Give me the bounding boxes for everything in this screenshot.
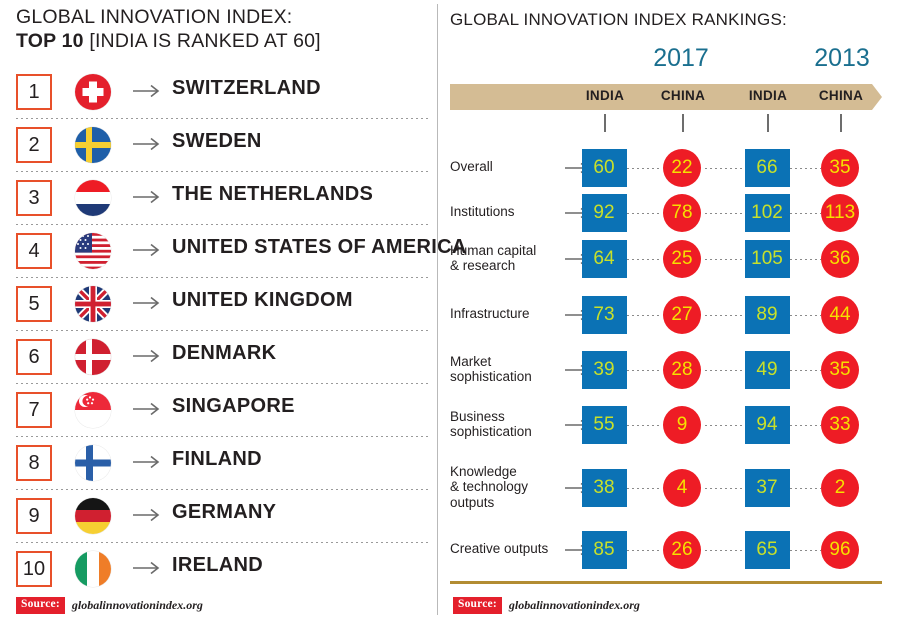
sweden-flag-icon — [75, 127, 111, 163]
year-header-2017: 2017 — [621, 44, 741, 73]
country-name: GERMANY — [172, 501, 276, 524]
rank-number-box: 2 — [16, 127, 52, 163]
connector-dots — [790, 550, 821, 551]
column-header-india-2013: INDIA — [728, 88, 808, 103]
column-tick-china-2017 — [682, 114, 684, 132]
source-badge: Source: — [453, 597, 502, 614]
value-cell-india: 39 — [582, 351, 627, 389]
country-row[interactable]: 4UNITED STATES OF AMERICA — [0, 225, 437, 278]
infographic-page: GLOBAL INNOVATION INDEX: TOP 10 [INDIA I… — [0, 0, 900, 619]
right-panel-title: GLOBAL INNOVATION INDEX RANKINGS: — [450, 10, 787, 30]
value-cell-india: 85 — [582, 531, 627, 569]
value-cell-india: 92 — [582, 194, 627, 232]
rank-number-box: 10 — [16, 551, 52, 587]
country-row[interactable]: 5UNITED KINGDOM — [0, 278, 437, 331]
country-row[interactable]: 2SWEDEN — [0, 119, 437, 172]
switzerland-flag-icon — [75, 74, 111, 110]
row-label-line: Creative outputs — [450, 541, 548, 557]
value-cell-india: 60 — [582, 149, 627, 187]
value-cell-china: 113 — [821, 194, 859, 232]
connector-dots — [790, 213, 821, 214]
row-label-line: Overall — [450, 159, 493, 175]
connector-dots — [627, 168, 659, 169]
column-header-china-2013: CHINA — [801, 88, 881, 103]
value-cell-india: 89 — [745, 296, 790, 334]
connector-dots — [705, 488, 744, 489]
column-header-india-2017: INDIA — [565, 88, 645, 103]
connector-dots — [627, 370, 659, 371]
connector-dots — [705, 550, 744, 551]
country-row[interactable]: 3THE NETHERLANDS — [0, 172, 437, 225]
connector-dots — [627, 259, 659, 260]
top10-emphasis: TOP 10 — [16, 30, 84, 52]
country-row[interactable]: 10IRELAND — [0, 543, 437, 596]
row-label: Marketsophistication — [450, 354, 532, 385]
value-cell-china: 44 — [821, 296, 859, 334]
country-name: UNITED STATES OF AMERICA — [172, 236, 467, 259]
country-name: SWEDEN — [172, 130, 262, 153]
value-cell-india: 55 — [582, 406, 627, 444]
connector-dots — [627, 550, 659, 551]
row-label-line: & research — [450, 258, 536, 274]
column-tick-india-2017 — [604, 114, 606, 132]
arrow-right-icon — [133, 242, 163, 258]
country-name: THE NETHERLANDS — [172, 183, 373, 206]
connector-dots — [705, 315, 744, 316]
value-cell-china: 26 — [663, 531, 701, 569]
left-source-line: Source: globalinnovationindex.org — [16, 597, 203, 614]
left-panel-top10: GLOBAL INNOVATION INDEX: TOP 10 [INDIA I… — [0, 0, 437, 619]
rank-number-box: 9 — [16, 498, 52, 534]
value-cell-china: 9 — [663, 406, 701, 444]
rank-number-box: 5 — [16, 286, 52, 322]
ireland-flag-icon — [75, 551, 111, 587]
rank-number-box: 8 — [16, 445, 52, 481]
value-cell-india: 65 — [745, 531, 790, 569]
rank-number-box: 6 — [16, 339, 52, 375]
connector-dots — [790, 370, 821, 371]
connector-dots — [705, 425, 744, 426]
value-cell-china: 78 — [663, 194, 701, 232]
value-cell-china: 4 — [663, 469, 701, 507]
value-cell-china: 36 — [821, 240, 859, 278]
left-panel-title-line2: TOP 10 [INDIA IS RANKED AT 60] — [16, 30, 321, 53]
source-badge: Source: — [16, 597, 65, 614]
row-label: Institutions — [450, 204, 515, 220]
row-label-line: sophistication — [450, 424, 532, 440]
row-label-line: Business — [450, 409, 532, 425]
row-label: Overall — [450, 159, 493, 175]
connector-dots — [627, 213, 659, 214]
value-cell-china: 2 — [821, 469, 859, 507]
arrow-right-icon — [133, 295, 163, 311]
arrow-right-icon — [133, 136, 163, 152]
row-label: Human capital& research — [450, 243, 536, 274]
connector-dots — [627, 425, 659, 426]
value-cell-china: 35 — [821, 351, 859, 389]
denmark-flag-icon — [75, 339, 111, 375]
row-label: Knowledge& technologyoutputs — [450, 464, 528, 511]
value-cell-china: 22 — [663, 149, 701, 187]
connector-dots — [627, 315, 659, 316]
row-label: Infrastructure — [450, 306, 530, 322]
value-cell-india: 73 — [582, 296, 627, 334]
finland-flag-icon — [75, 445, 111, 481]
arrow-right-icon — [133, 454, 163, 470]
rank-number-box: 3 — [16, 180, 52, 216]
row-label-line: Institutions — [450, 204, 515, 220]
right-source-line: Source: globalinnovationindex.org — [453, 597, 640, 614]
rank-number-box: 1 — [16, 74, 52, 110]
value-cell-india: 94 — [745, 406, 790, 444]
uk-flag-icon — [75, 286, 111, 322]
value-cell-india: 64 — [582, 240, 627, 278]
country-row[interactable]: 9GERMANY — [0, 490, 437, 543]
gold-rule-divider — [450, 581, 882, 584]
row-label-line: & technology — [450, 479, 528, 495]
country-name: FINLAND — [172, 448, 262, 471]
value-cell-india: 49 — [745, 351, 790, 389]
netherlands-flag-icon — [75, 180, 111, 216]
column-tick-china-2013 — [840, 114, 842, 132]
arrow-right-icon — [133, 348, 163, 364]
column-tick-india-2013 — [767, 114, 769, 132]
arrow-right-icon — [133, 560, 163, 576]
value-cell-china: 33 — [821, 406, 859, 444]
connector-dots — [705, 370, 744, 371]
country-row[interactable]: 8FINLAND — [0, 437, 437, 490]
arrow-right-icon — [133, 83, 163, 99]
connector-dots — [790, 488, 821, 489]
connector-dots — [627, 488, 659, 489]
value-cell-india: 66 — [745, 149, 790, 187]
source-url-text: globalinnovationindex.org — [509, 598, 640, 613]
india-rank-note: [INDIA IS RANKED AT 60] — [84, 30, 321, 52]
row-label-line: sophistication — [450, 369, 532, 385]
country-ranking-list: 1SWITZERLAND2SWEDEN3THE NETHERLANDS4UNIT… — [0, 66, 437, 596]
row-label-line: Market — [450, 354, 532, 370]
connector-dots — [705, 213, 744, 214]
arrow-right-icon — [133, 401, 163, 417]
value-cell-india: 38 — [582, 469, 627, 507]
rank-number-box: 4 — [16, 233, 52, 269]
value-cell-india: 37 — [745, 469, 790, 507]
value-cell-china: 28 — [663, 351, 701, 389]
row-label: Creative outputs — [450, 541, 548, 557]
connector-dots — [790, 425, 821, 426]
usa-flag-icon — [75, 233, 111, 269]
connector-dots — [790, 168, 821, 169]
country-name: SINGAPORE — [172, 395, 295, 418]
row-label-line: Infrastructure — [450, 306, 530, 322]
value-cell-china: 35 — [821, 149, 859, 187]
source-url-text: globalinnovationindex.org — [72, 598, 203, 613]
connector-dots — [705, 259, 744, 260]
country-row[interactable]: 1SWITZERLAND — [0, 66, 437, 119]
country-row[interactable]: 7SINGAPORE — [0, 384, 437, 437]
left-panel-title-line1: GLOBAL INNOVATION INDEX: — [16, 6, 292, 29]
connector-dots — [705, 168, 744, 169]
column-header-china-2017: CHINA — [643, 88, 723, 103]
value-cell-china: 25 — [663, 240, 701, 278]
right-panel-rankings: GLOBAL INNOVATION INDEX RANKINGS: 2017 2… — [437, 0, 900, 619]
connector-dots — [790, 259, 821, 260]
singapore-flag-icon — [75, 392, 111, 428]
row-label-line: Knowledge — [450, 464, 528, 480]
value-cell-china: 27 — [663, 296, 701, 334]
value-cell-india: 105 — [745, 240, 790, 278]
country-name: DENMARK — [172, 342, 276, 365]
row-label: Businesssophistication — [450, 409, 532, 440]
row-label-line: Human capital — [450, 243, 536, 259]
arrow-right-icon — [133, 507, 163, 523]
value-cell-india: 102 — [745, 194, 790, 232]
country-name: SWITZERLAND — [172, 77, 321, 100]
connector-dots — [790, 315, 821, 316]
country-row[interactable]: 6DENMARK — [0, 331, 437, 384]
value-cell-china: 96 — [821, 531, 859, 569]
country-name: IRELAND — [172, 554, 263, 577]
row-label-line: outputs — [450, 495, 528, 511]
germany-flag-icon — [75, 498, 111, 534]
rank-number-box: 7 — [16, 392, 52, 428]
arrow-right-icon — [133, 189, 163, 205]
year-header-2013: 2013 — [782, 44, 900, 73]
country-name: UNITED KINGDOM — [172, 289, 353, 312]
